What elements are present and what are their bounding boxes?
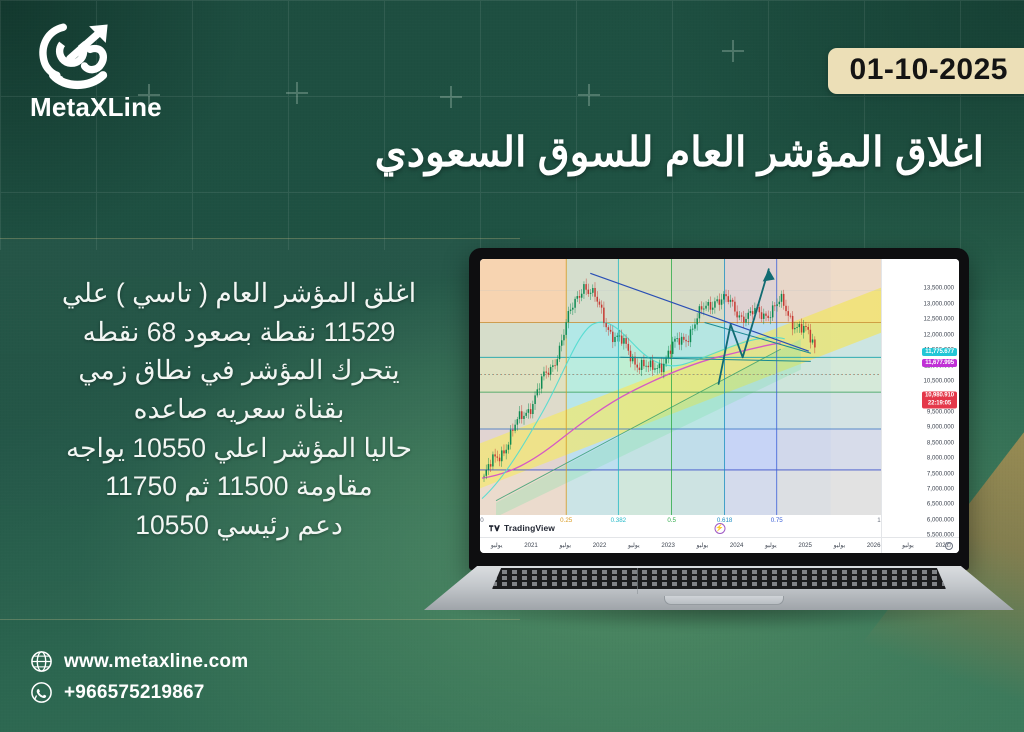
price-tick: 6,500.000 xyxy=(927,501,954,508)
analysis-line: 11529 نقطة بصعود 68 نقطه xyxy=(14,313,464,352)
chart-canvas xyxy=(480,259,881,515)
fib-level-label: 0 xyxy=(480,517,483,524)
analysis-text-block: اغلق المؤشر العام ( تاسي ) علي 11529 نقط… xyxy=(14,274,464,545)
analysis-line: دعم رئيسي 10550 xyxy=(14,506,464,545)
price-tick: 12,000.000 xyxy=(924,331,955,338)
chart-clock-icon[interactable]: ⚡ xyxy=(714,523,725,534)
time-tick: 2024 xyxy=(730,542,744,549)
time-tick: يوليو xyxy=(559,542,571,549)
time-tick: 2026 xyxy=(867,542,881,549)
whatsapp-icon xyxy=(30,681,53,704)
price-axis[interactable]: 13,500.00013,000.00012,500.00012,000.000… xyxy=(881,259,959,553)
laptop-lid: 00.250.3820.50.6180.751 13,500.00013,000… xyxy=(469,248,969,570)
laptop-seam xyxy=(637,568,638,594)
page-title: اغلاق المؤشر العام للسوق السعودي xyxy=(154,128,984,176)
fib-level-label: 0.5 xyxy=(667,517,676,524)
time-axis[interactable]: يوليو2021يوليو2022يوليو2023يوليو2024يولي… xyxy=(480,537,959,553)
time-tick: 2021 xyxy=(524,542,538,549)
plus-mark-icon xyxy=(286,82,308,104)
time-tick: يوليو xyxy=(834,542,846,549)
price-tick: 9,500.000 xyxy=(927,408,954,415)
plus-mark-icon xyxy=(578,84,600,106)
date-badge: 01-10-2025 xyxy=(828,48,1024,94)
price-tick: 7,500.000 xyxy=(927,470,954,477)
price-label-pill[interactable]: 10,980.91022:19:05 xyxy=(922,392,957,409)
tradingview-watermark: TradingView xyxy=(489,523,555,533)
time-tick: يوليو xyxy=(491,542,503,549)
analysis-line: مقاومة 11500 ثم 11750 xyxy=(14,467,464,506)
price-tick: 8,000.000 xyxy=(927,455,954,462)
time-tick: يوليو xyxy=(765,542,777,549)
brand-logo[interactable]: MetaXLine xyxy=(28,18,168,123)
fib-level-label: 0.75 xyxy=(771,517,783,524)
website-row[interactable]: www.metaxline.com xyxy=(30,650,248,673)
footer-contact: www.metaxline.com +966575219867 xyxy=(30,650,248,712)
time-tick: 2022 xyxy=(593,542,607,549)
price-tick: 6,000.000 xyxy=(927,516,954,523)
price-tick: 13,500.000 xyxy=(924,285,955,292)
tradingview-chart[interactable]: 00.250.3820.50.6180.751 13,500.00013,000… xyxy=(480,259,959,553)
price-tick: 13,000.000 xyxy=(924,300,955,307)
chart-plot-area[interactable] xyxy=(480,259,881,515)
laptop-keyboard xyxy=(492,568,946,589)
phone-row[interactable]: +966575219867 xyxy=(30,681,248,704)
tradingview-logo-icon xyxy=(489,524,501,533)
plus-mark-icon xyxy=(440,86,462,108)
price-label-pill[interactable]: 11,775.677 xyxy=(922,348,957,356)
plus-mark-icon xyxy=(722,40,744,62)
brand-name: MetaXLine xyxy=(30,92,168,123)
metaxline-growth-arrow-logo-icon xyxy=(32,18,126,90)
price-tick: 7,000.000 xyxy=(927,486,954,493)
globe-icon xyxy=(30,650,53,673)
poster-canvas: MetaXLine 01-10-2025 اغلاق المؤشر العام … xyxy=(0,0,1024,732)
analysis-line: يتحرك المؤشر في نطاق زمي xyxy=(14,351,464,390)
price-tick: 12,500.000 xyxy=(924,316,955,323)
laptop-mockup: 00.250.3820.50.6180.751 13,500.00013,000… xyxy=(424,248,1014,648)
time-tick: 2023 xyxy=(661,542,675,549)
analysis-line: حاليا المؤشر اعلي 10550 يواجه xyxy=(14,429,464,468)
analysis-line: بقناة سعريه صاعده xyxy=(14,390,464,429)
laptop-screen: 00.250.3820.50.6180.751 13,500.00013,000… xyxy=(480,259,959,553)
website-text: www.metaxline.com xyxy=(64,651,248,673)
price-tick: 8,500.000 xyxy=(927,439,954,446)
time-tick: يوليو xyxy=(628,542,640,549)
price-label-pill[interactable]: 11,677.995 xyxy=(922,359,957,367)
time-tick: 2025 xyxy=(798,542,812,549)
fib-level-label: 0.25 xyxy=(560,517,572,524)
tradingview-label: TradingView xyxy=(504,523,555,533)
fib-level-label: 0.382 xyxy=(611,517,626,524)
laptop-trackpad xyxy=(664,596,784,605)
time-tick: يوليو xyxy=(697,542,709,549)
price-tick: 10,500.000 xyxy=(924,378,955,385)
analysis-line: اغلق المؤشر العام ( تاسي ) علي xyxy=(14,274,464,313)
phone-text: +966575219867 xyxy=(64,682,205,704)
time-tick: يوليو xyxy=(902,542,914,549)
chart-crosshair-icon[interactable]: ⊙ xyxy=(945,542,953,550)
price-tick: 9,000.000 xyxy=(927,424,954,431)
